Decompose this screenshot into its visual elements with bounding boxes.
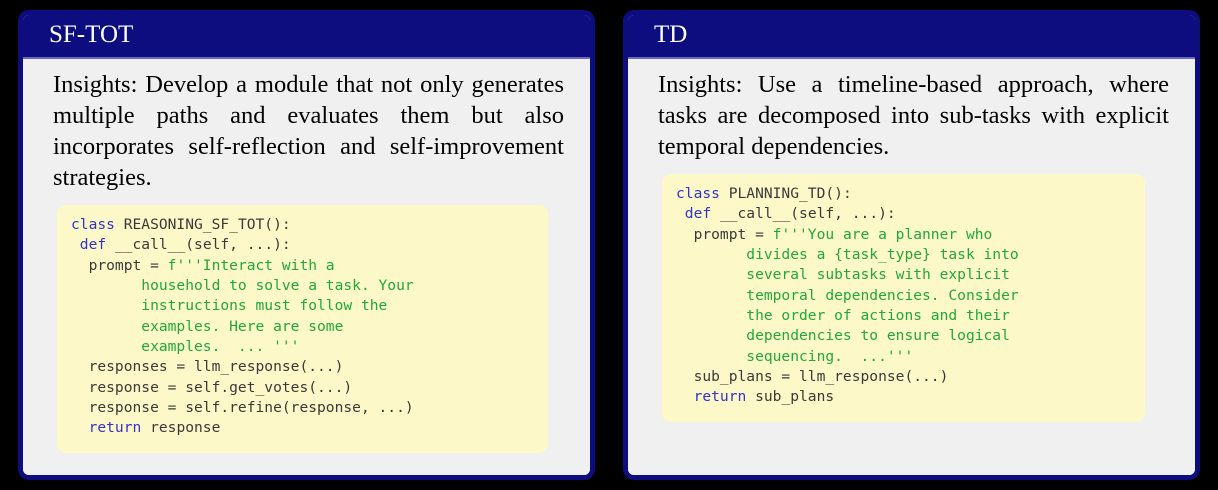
code-token-kw: def [80,236,115,253]
code-line: class REASONING_SF_TOT(): [71,215,534,235]
insight-text-td: Insights: Use a timeline-based approach,… [648,69,1175,162]
code-token-str: temporal dependencies. Consider [676,287,1019,304]
code-line: examples. Here are some [71,317,534,337]
code-token-name: response [150,419,220,436]
code-line: class PLANNING_TD(): [676,184,1131,204]
code-token-name: sub_plans [755,388,834,405]
code-token-name [676,388,694,405]
code-token-kw: class [71,216,124,233]
code-token-name [676,205,685,222]
code-token-name: responses = llm_response(...) [71,358,343,375]
code-line: temporal dependencies. Consider [676,286,1131,306]
code-token-name: response = self.get_votes(...) [71,379,352,396]
code-line: the order of actions and their [676,306,1131,326]
code-line: def __call__(self, ...): [676,204,1131,224]
code-line: response = self.get_votes(...) [71,378,534,398]
code-token-str: sequencing. ...''' [676,348,913,365]
code-token-str: examples. ... ''' [71,338,299,355]
code-token-str: dependencies to ensure logical [676,327,1010,344]
code-line: sub_plans = llm_response(...) [676,367,1131,387]
code-token-name [71,419,89,436]
code-token-str: the order of actions and their [676,307,1010,324]
code-line: def __call__(self, ...): [71,235,534,255]
card-title-td: TD [628,15,1195,59]
code-token-kw: def [685,205,720,222]
card-sf-tot: SF-TOT Insights: Develop a module that n… [18,10,595,480]
code-line: return response [71,418,534,438]
code-block-sf-tot: class REASONING_SF_TOT(): def __call__(s… [57,205,548,453]
code-line: return sub_plans [676,387,1131,407]
code-line: dependencies to ensure logical [676,326,1131,346]
code-token-name: __call__(self, ...): [720,205,896,222]
code-token-str: instructions must follow the [71,297,387,314]
code-token-str: f'''Interact with a [168,257,335,274]
code-line: response = self.refine(response, ...) [71,398,534,418]
code-token-name: prompt = [71,257,168,274]
insight-text-sf-tot: Insights: Develop a module that not only… [43,69,570,193]
code-token-name: prompt = [676,226,773,243]
code-block-td: class PLANNING_TD(): def __call__(self, … [662,174,1145,422]
code-token-kw: return [89,419,151,436]
code-line: several subtasks with explicit [676,265,1131,285]
code-line: instructions must follow the [71,296,534,316]
code-token-str: household to solve a task. Your [71,277,414,294]
code-token-kw: return [694,388,756,405]
card-body-td: Insights: Use a timeline-based approach,… [628,59,1195,476]
card-title-sf-tot: SF-TOT [23,15,590,59]
code-line: examples. ... ''' [71,337,534,357]
code-token-kw: class [676,185,729,202]
code-token-str: examples. Here are some [71,318,343,335]
code-token-name: PLANNING_TD(): [729,185,852,202]
code-token-str: f'''You are a planner who [773,226,993,243]
code-line: responses = llm_response(...) [71,357,534,377]
cards-board: SF-TOT Insights: Develop a module that n… [0,0,1218,490]
code-token-name [71,236,80,253]
code-token-name: REASONING_SF_TOT(): [124,216,291,233]
code-line: divides a {task_type} task into [676,245,1131,265]
code-line: prompt = f'''Interact with a [71,256,534,276]
code-token-name: sub_plans = llm_response(...) [676,368,948,385]
code-token-str: several subtasks with explicit [676,266,1010,283]
card-body-sf-tot: Insights: Develop a module that not only… [23,59,590,476]
code-token-str: divides a {task_type} task into [676,246,1019,263]
card-td: TD Insights: Use a timeline-based approa… [623,10,1200,480]
code-line: household to solve a task. Your [71,276,534,296]
code-token-name: response = self.refine(response, ...) [71,399,414,416]
code-token-name: __call__(self, ...): [115,236,291,253]
code-line: prompt = f'''You are a planner who [676,225,1131,245]
code-line: sequencing. ...''' [676,347,1131,367]
